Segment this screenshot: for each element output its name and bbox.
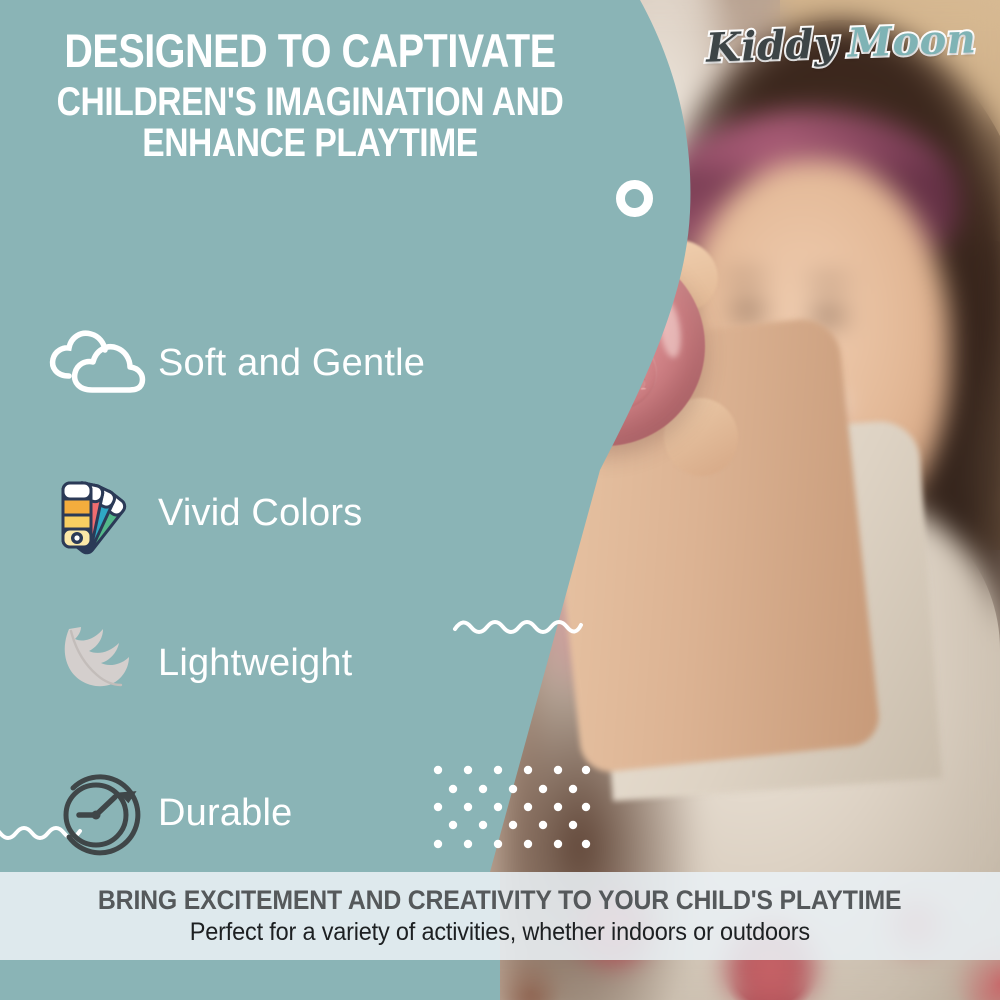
feature-item-vivid-colors: Vivid Colors — [40, 438, 510, 588]
cloud-icon — [40, 308, 158, 418]
footer-headline: Bring Excitement and Creativity to Your … — [98, 885, 901, 916]
feature-item-lightweight: Lightweight — [40, 588, 510, 738]
feature-item-soft-and-gentle: Soft and Gentle — [40, 288, 510, 438]
feature-item-durable: Durable — [40, 738, 510, 888]
feature-label-vivid-colors: Vivid Colors — [158, 492, 362, 535]
headline-line-2: Children's Imagination and — [50, 83, 571, 121]
footer-subline: Perfect for a variety of activities, whe… — [190, 918, 810, 947]
footer-banner: Bring Excitement and Creativity to Your … — [0, 872, 1000, 960]
headline-line-3: Enhance Playtime — [50, 124, 571, 162]
headline-block: Designed to Captivate Children's Imagina… — [0, 28, 620, 162]
brand-name-part1: Kiddy — [705, 20, 838, 72]
feature-label-durable: Durable — [158, 792, 292, 835]
clock-arrow-icon — [40, 758, 158, 868]
headline-line-1: Designed to Captivate — [50, 28, 571, 73]
feature-list: Soft and Gentle — [40, 288, 510, 888]
product-infographic-poster: Kiddy Moon KiddyMoon Designed to Captiva… — [0, 0, 1000, 1000]
brand-name-part2: Moon — [846, 15, 976, 66]
feature-label-soft-and-gentle: Soft and Gentle — [158, 342, 425, 385]
brand-logo: KiddyMoon — [705, 15, 977, 71]
feature-label-lightweight: Lightweight — [158, 642, 352, 685]
feather-icon — [40, 608, 158, 718]
ring-decoration — [616, 180, 653, 217]
color-swatch-fan-icon — [40, 458, 158, 568]
